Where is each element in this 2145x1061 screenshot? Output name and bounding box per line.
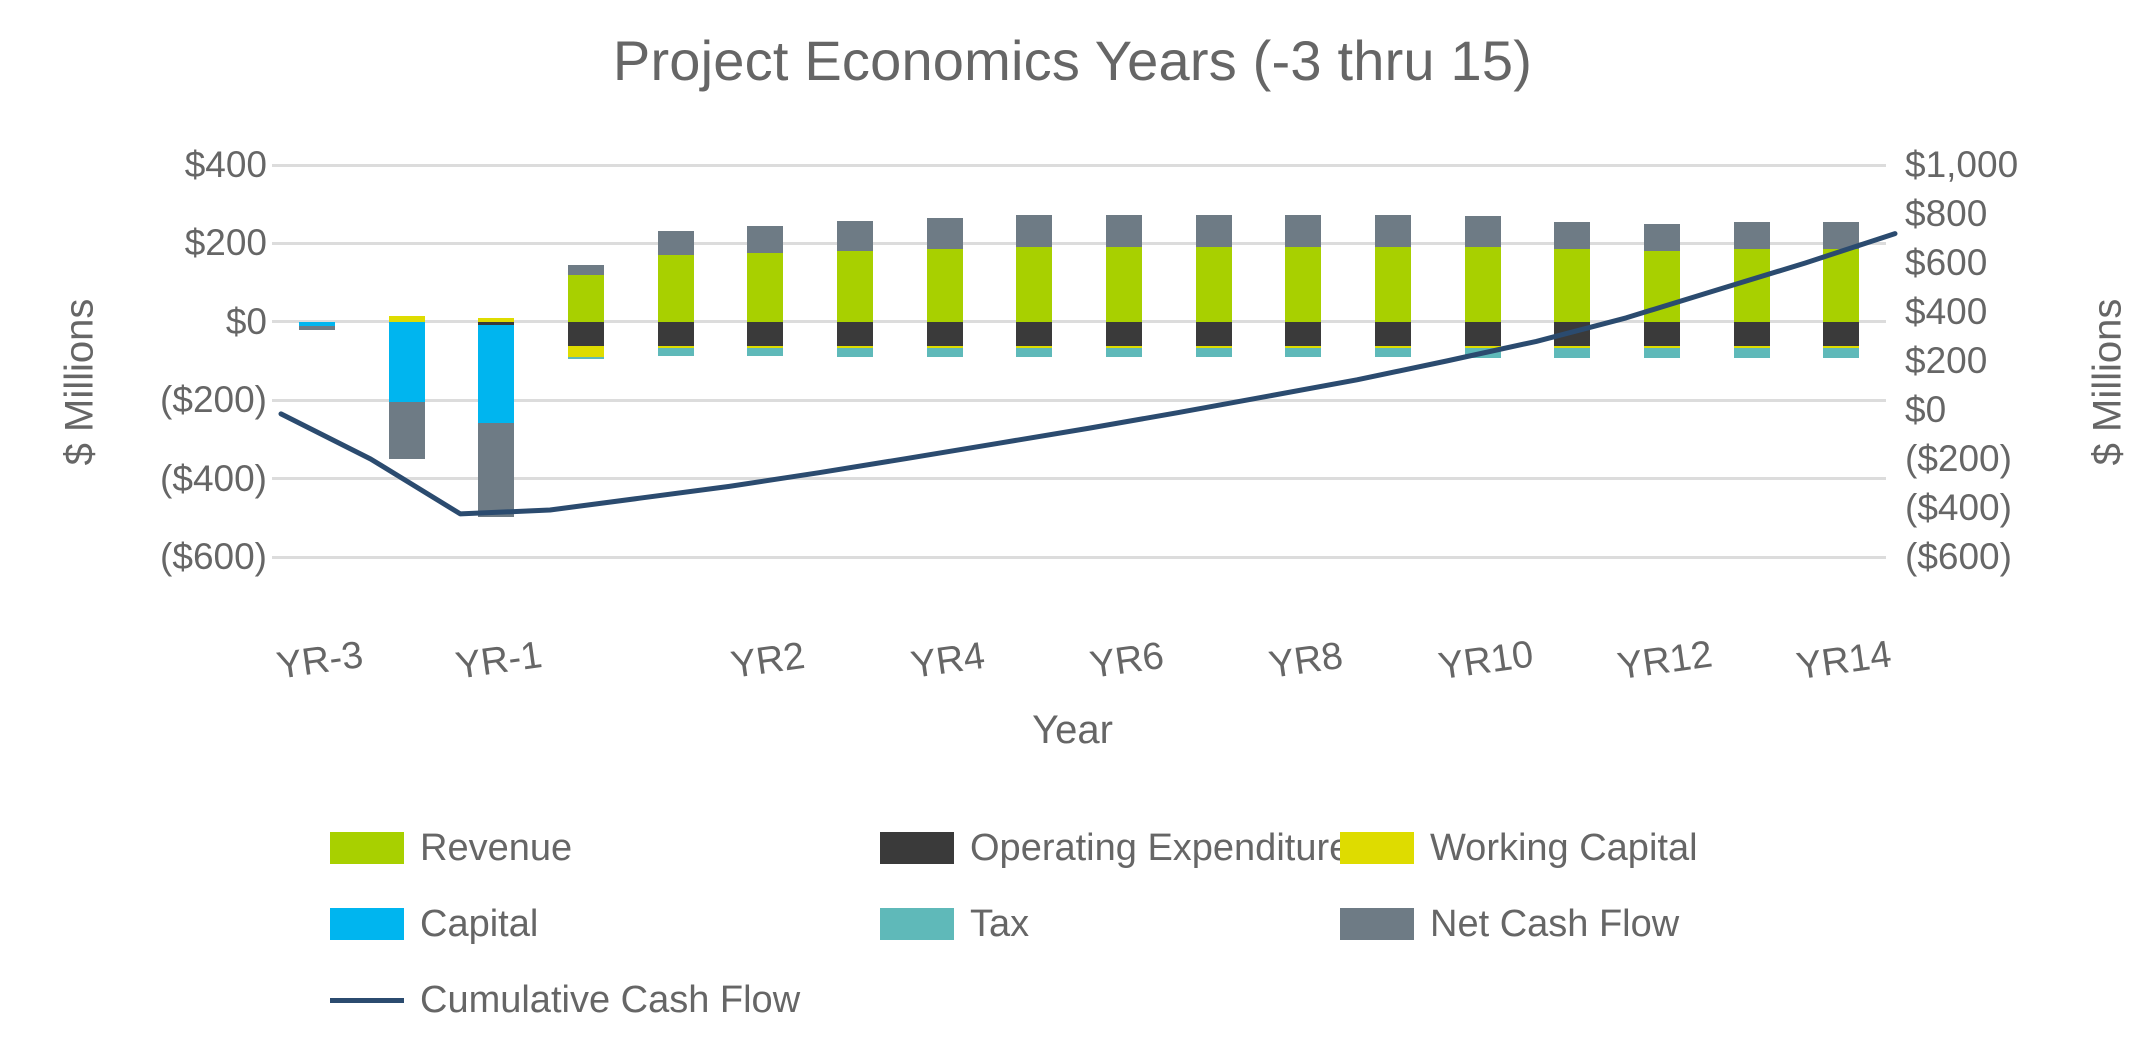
y-tick-label-left: $200 [185, 222, 267, 264]
chart-legend: RevenueOperating ExpenditureWorking Capi… [0, 818, 2145, 1008]
cumulative-cash-flow-line [272, 165, 1886, 557]
legend-item[interactable]: Cumulative Cash Flow [330, 970, 800, 1030]
y-tick-label-right: $200 [1905, 340, 1987, 382]
legend-item[interactable]: Capital [330, 894, 538, 954]
y-tick-label-right: ($400) [1905, 487, 2012, 529]
legend-swatch-icon [1340, 908, 1414, 940]
legend-item[interactable]: Revenue [330, 818, 572, 878]
y-tick-label-right: $1,000 [1905, 144, 2018, 186]
legend-swatch-icon [330, 908, 404, 940]
y-tick-label-right: $400 [1905, 291, 1987, 333]
y-tick-label-right: $0 [1905, 389, 1946, 431]
legend-item-label: Cumulative Cash Flow [420, 979, 800, 1022]
y-tick-label-left: ($200) [160, 379, 267, 421]
legend-swatch-icon [1340, 832, 1414, 864]
y-tick-label-right: ($200) [1905, 438, 2012, 480]
y-tick-label-left: $400 [185, 144, 267, 186]
y-tick-label-right: ($600) [1905, 536, 2012, 578]
legend-swatch-icon [880, 832, 954, 864]
legend-swatch-icon [330, 832, 404, 864]
plot-area [272, 165, 1886, 557]
legend-item-label: Working Capital [1430, 827, 1698, 870]
legend-item-label: Revenue [420, 827, 572, 870]
y-tick-label-left: $0 [226, 301, 267, 343]
legend-item[interactable]: Tax [880, 894, 1029, 954]
cumulative-cash-flow-polyline [281, 234, 1895, 514]
legend-item[interactable]: Working Capital [1340, 818, 1698, 878]
chart-canvas: Project Economics Years (-3 thru 15) $ M… [0, 0, 2145, 1061]
legend-item-label: Net Cash Flow [1430, 903, 1679, 946]
legend-swatch-icon [880, 908, 954, 940]
y-tick-label-right: $800 [1905, 193, 1987, 235]
legend-item-label: Capital [420, 903, 538, 946]
y-tick-label-right: $600 [1905, 242, 1987, 284]
legend-item-label: Operating Expenditure [970, 827, 1350, 870]
legend-line-icon [330, 998, 404, 1003]
y-tick-label-left: ($600) [160, 536, 267, 578]
y-tick-label-left: ($400) [160, 458, 267, 500]
legend-item[interactable]: Operating Expenditure [880, 818, 1350, 878]
legend-item-label: Tax [970, 903, 1029, 946]
legend-item[interactable]: Net Cash Flow [1340, 894, 1679, 954]
